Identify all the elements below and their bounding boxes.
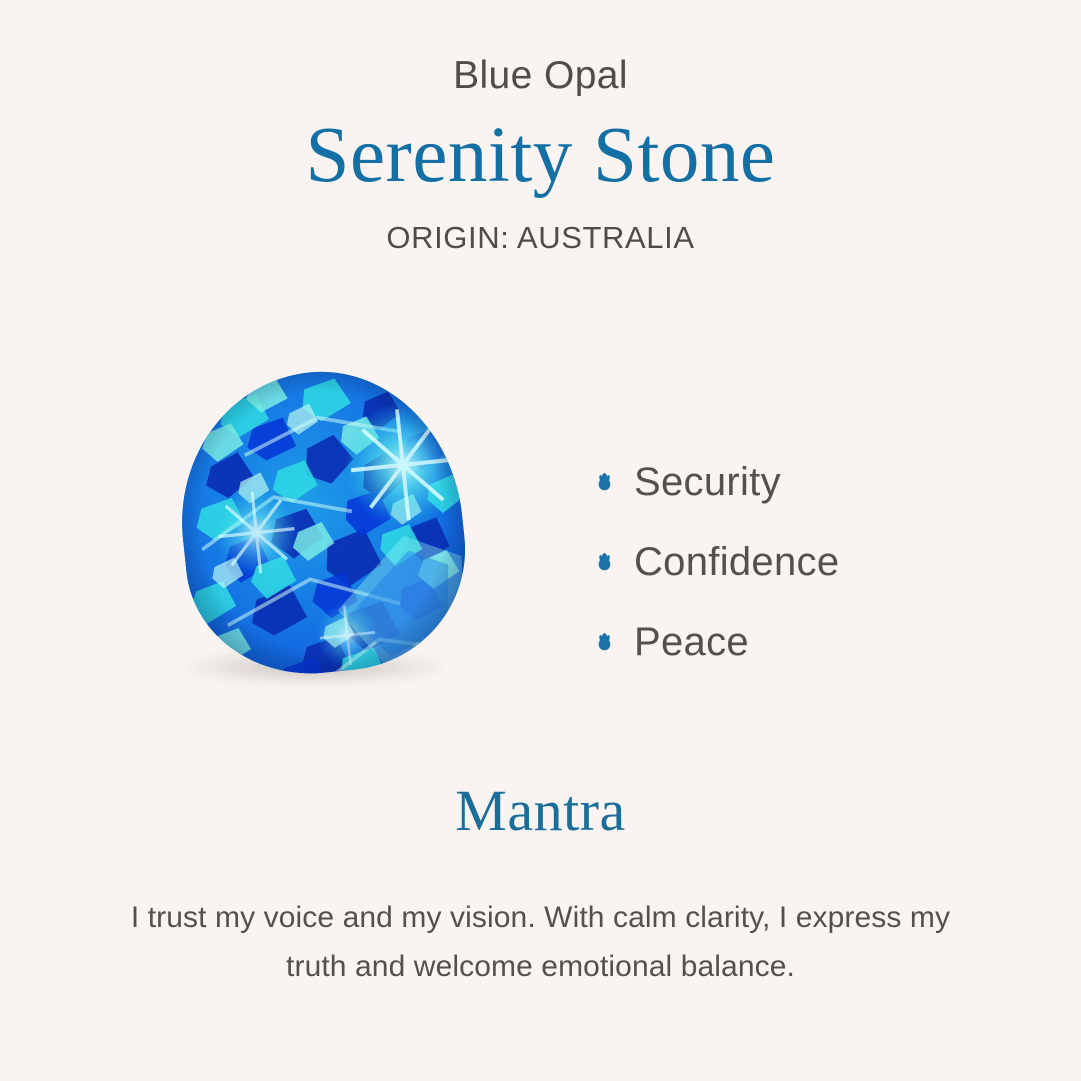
gem-bullet-icon: [596, 471, 613, 493]
attribute-item: Security: [596, 442, 839, 522]
page-title: Serenity Stone: [0, 113, 1081, 198]
attribute-item: Peace: [596, 602, 839, 682]
attribute-item: Confidence: [596, 522, 839, 602]
gemstone-info-card: Blue Opal Serenity Stone ORIGIN: AUSTRAL…: [0, 0, 1081, 1081]
mantra-heading: Mantra: [0, 782, 1081, 840]
mantra-text: I trust my voice and my vision. With cal…: [101, 894, 981, 991]
gemstone-texture: [167, 358, 477, 686]
attribute-label: Peace: [634, 622, 749, 662]
gem-bullet-icon: [596, 631, 613, 653]
blue-opal-gemstone-icon: [167, 358, 477, 686]
card-header: Blue Opal Serenity Stone ORIGIN: AUSTRAL…: [0, 0, 1081, 256]
attributes-list: Security Confidence Peace: [596, 442, 839, 682]
stone-type-label: Blue Opal: [0, 56, 1081, 95]
origin-label: ORIGIN: AUSTRALIA: [0, 220, 1081, 256]
mantra-section: Mantra I trust my voice and my vision. W…: [0, 782, 1081, 991]
attribute-label: Confidence: [634, 542, 839, 582]
gemstone-figure: [158, 368, 478, 698]
stone-and-attributes-section: Security Confidence Peace: [0, 368, 1081, 708]
gem-bullet-icon: [596, 551, 613, 573]
attribute-label: Security: [634, 462, 781, 502]
